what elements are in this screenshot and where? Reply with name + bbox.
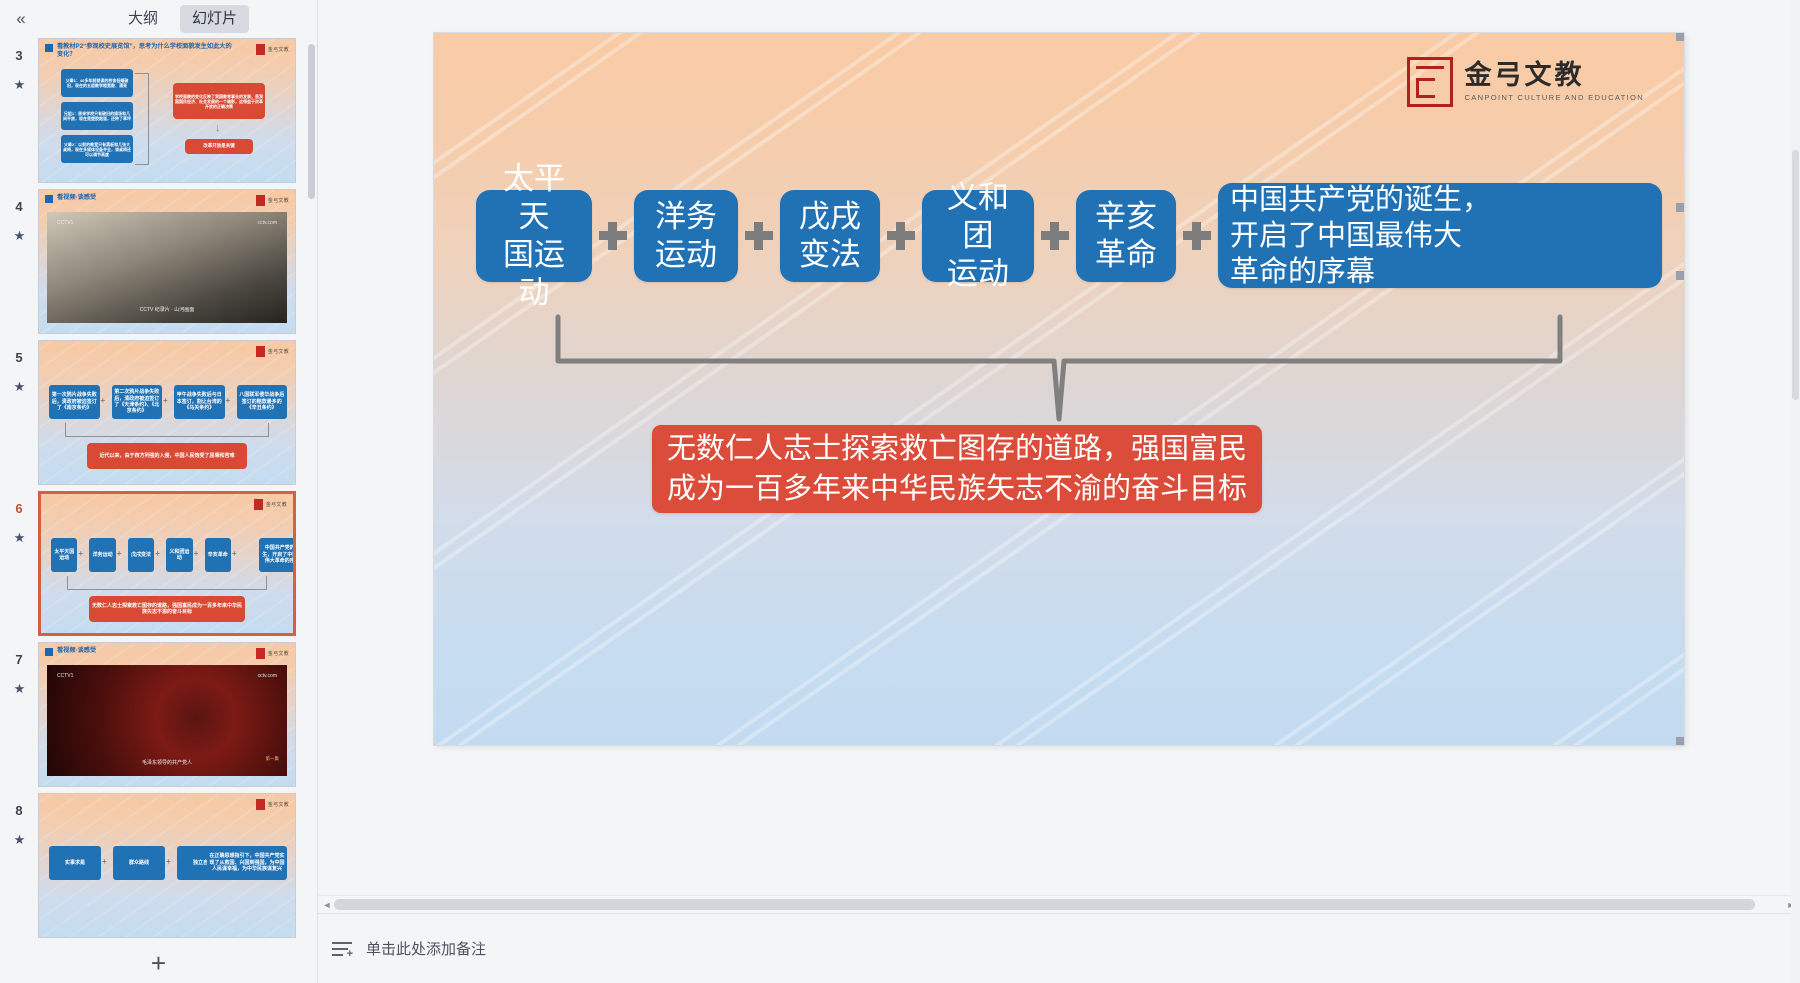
selection-handle-right-2[interactable] (1676, 271, 1684, 280)
flow-box-3[interactable]: 戊戌 变法 (780, 190, 880, 282)
flow-box-6[interactable]: 中国共产党的诞生， 开启了中国最伟大 革命的序幕 (1218, 183, 1662, 288)
thumb-logo: 金弓文教 (256, 346, 289, 357)
thumb-flow-box-2: 群众路线 (113, 846, 165, 880)
brace-connector (554, 313, 1564, 423)
hscroll-thumb[interactable] (334, 899, 1755, 910)
thumb-flow-box-4: 在正确思想指引下，中国共产党实现了从救国、兴国到强国，为中国人民谋幸福，为中华民… (207, 846, 287, 880)
thumb-plus-1: + (102, 858, 107, 866)
notes-add-icon: + (332, 939, 354, 959)
plus-separator-4 (1034, 215, 1076, 257)
thumbnail-scrollbar-thumb[interactable] (308, 44, 315, 199)
thumbnail-meta-8: 8★ (0, 793, 38, 938)
thumbnail-meta-7: 7★ (0, 642, 38, 787)
thumb-logo-mark-icon (256, 346, 265, 357)
thumb-title: 看视频·谈感受 (45, 647, 235, 656)
flow-box-2[interactable]: 洋务 运动 (634, 190, 738, 282)
thumb-flow-box-3: 戊戌变法 (128, 538, 154, 572)
thumb-plus-2: + (163, 397, 168, 405)
thumb-flow-box-1: 父辈1：40多年前就读的校舍低矮破旧，现在的五层教学楼宽敞、漂亮 (61, 69, 133, 97)
logo-text: 金弓文教 CANPOINT CULTURE AND EDUCATION (1465, 60, 1645, 104)
thumbnail-row-7: 7★金弓文教看视频·谈感受CCTV1cctv.com毛泽东领导的共产党人第一集 (0, 642, 317, 787)
thumbnail-list: 3★金弓文教看教材P2“参观校史展览馆”，思考为什么学校面貌发生如此大的变化？父… (0, 38, 317, 938)
movements-flow-row: 太平天 国运动洋务 运动戊戌 变法义和团 运动辛亥 革命中国共产党的诞生， 开启… (476, 183, 1662, 288)
thumbnail-scroll-area[interactable]: 3★金弓文教看教材P2“参观校史展览馆”，思考为什么学校面貌发生如此大的变化？父… (0, 38, 317, 943)
slide-number-3: 3 (15, 48, 22, 64)
window-scrollbar-thumb[interactable] (1792, 150, 1799, 400)
logo-chinese-name: 金弓文教 (1465, 60, 1645, 90)
thumb-red-box-1: 学校面貌的变化反映了我国教育事业的发展，是我国国民经济、社会发展的一个缩影，这得… (173, 83, 265, 119)
thumb-title-text: 看视频·谈感受 (57, 647, 96, 655)
thumb-channel-right-label: cctv.com (258, 673, 277, 679)
thumbnail-row-4: 4★金弓文教看视频·谈感受CCTV1cctv.comCCTV 纪录片 · 山河画… (0, 189, 317, 334)
thumb-brace-connector (135, 73, 149, 165)
panel-tabs: 大纲 幻灯片 (116, 5, 249, 33)
animation-star-icon-8[interactable]: ★ (14, 833, 25, 846)
thumb-brace-connector (65, 423, 269, 437)
thumb-title-bullet-icon (45, 648, 53, 656)
tab-slides[interactable]: 幻灯片 (180, 5, 249, 33)
thumbnail-row-5: 5★金弓文教第一次鸦片战争失败后，清政府被迫签订了《南京条约》+第二次鸦片战争失… (0, 340, 317, 485)
thumb-logo-text: 金弓文教 (268, 348, 289, 355)
thumb-logo-text: 金弓文教 (268, 46, 289, 53)
logo-english-name: CANPOINT CULTURE AND EDUCATION (1465, 92, 1645, 104)
slide-thumbnail-6[interactable]: 金弓文教太平天国运动+洋务运动+戊戌变法+义和团运动+辛亥革命+中国共产党的诞生… (38, 491, 296, 636)
slide-number-6: 6 (15, 501, 22, 517)
brace-svg (554, 313, 1564, 423)
thumb-title-text: 看教材P2“参观校史展览馆”，思考为什么学校面貌发生如此大的变化？ (57, 43, 235, 59)
slide-thumbnail-5[interactable]: 金弓文教第一次鸦片战争失败后，清政府被迫签订了《南京条约》+第二次鸦片战争失败后… (38, 340, 296, 485)
thumb-flow-box-2: 第二次鸦片战争失败后，清政府被迫签订了《天津条约》、《北京条约》 (112, 385, 163, 419)
slide-thumbnail-panel: « 大纲 幻灯片 3★金弓文教看教材P2“参观校史展览馆”，思考为什么学校面貌发… (0, 0, 318, 983)
thumb-flow-box-6: 中国共产党的诞生，开启了中国最伟大革命的序幕 (259, 538, 296, 572)
brand-logo: 金弓文教 CANPOINT CULTURE AND EDUCATION (1407, 57, 1645, 107)
thumbnail-meta-6: 6★ (0, 491, 38, 636)
animation-star-icon-3[interactable]: ★ (14, 78, 25, 91)
thumb-channel-left-label: CCTV1 (57, 673, 73, 679)
thumb-flow-box-5: 辛亥革命 (205, 538, 231, 572)
add-slide-button[interactable]: + (0, 943, 317, 983)
slide-thumbnail-8[interactable]: 金弓文教实事求是+群众路线+独立自主⇒在正确思想指引下，中国共产党实现了从救国、… (38, 793, 296, 938)
flow-box-5[interactable]: 辛亥 革命 (1076, 190, 1176, 282)
thumb-flow-box-4: 义和团运动 (166, 538, 192, 572)
animation-star-icon-6[interactable]: ★ (14, 531, 25, 544)
animation-star-icon-5[interactable]: ★ (14, 380, 25, 393)
slide-number-8: 8 (15, 803, 22, 819)
thumb-red-box-2: 改革开放是关键 (185, 139, 253, 154)
notes-placeholder: 单击此处添加备注 (366, 938, 486, 959)
thumb-logo-mark-icon (256, 195, 265, 206)
slide-stage: 金弓文教 CANPOINT CULTURE AND EDUCATION 太平天 … (318, 0, 1800, 895)
thumb-title-bullet-icon (45, 44, 53, 52)
slide-number-4: 4 (15, 199, 22, 215)
thumb-logo: 金弓文教 (256, 799, 289, 810)
thumb-flow-box-2: 兄姐1：原来学校只有破旧的操场和几间平房，现在是塑胶跑道，还种了草坪 (61, 102, 133, 130)
hscroll-track[interactable] (334, 899, 1784, 910)
collapse-panel-icon[interactable]: « (4, 4, 38, 34)
conclusion-line-1: 无数仁人志士探索救亡图存的道路，强国富民 (667, 429, 1247, 469)
thumbnail-row-6: 6★金弓文教太平天国运动+洋务运动+戊戌变法+义和团运动+辛亥革命+中国共产党的… (0, 491, 317, 636)
thumb-flow-box-4: 八国联军侵华战争后签订的赔款最多的《辛丑条约》 (237, 385, 288, 419)
animation-star-icon-4[interactable]: ★ (14, 229, 25, 242)
thumb-flow-box-1: 实事求是 (49, 846, 101, 880)
horizontal-scrollbar[interactable]: ◄ ► (318, 895, 1800, 913)
thumbnail-vertical-scrollbar[interactable] (308, 40, 315, 940)
thumb-flow-box-3: 父辈2：以前的教室只有黑板和几张大桌椅，现在多媒体设备齐全，课桌椅还可以调节高度 (61, 135, 133, 163)
slide-thumbnail-3[interactable]: 金弓文教看教材P2“参观校史展览馆”，思考为什么学校面貌发生如此大的变化？父辈1… (38, 38, 296, 183)
thumb-logo-mark-icon (256, 44, 265, 55)
slide-thumbnail-4[interactable]: 金弓文教看视频·谈感受CCTV1cctv.comCCTV 纪录片 · 山河画面 (38, 189, 296, 334)
thumb-flow-box-2: 洋务运动 (89, 538, 115, 572)
thumb-corner-label: 第一集 (266, 756, 280, 762)
selection-handle-bottom-right[interactable] (1676, 737, 1684, 745)
thumb-title-text: 看视频·谈感受 (57, 194, 96, 202)
slide-number-5: 5 (15, 350, 22, 366)
thumb-title-bullet-icon (45, 195, 53, 203)
plus-separator-1 (592, 215, 634, 257)
thumb-plus-1: + (101, 397, 106, 405)
window-vertical-scrollbar[interactable] (1791, 0, 1800, 983)
flow-box-4[interactable]: 义和团 运动 (922, 190, 1034, 282)
thumbnail-row-3: 3★金弓文教看教材P2“参观校史展览馆”，思考为什么学校面貌发生如此大的变化？父… (0, 38, 317, 183)
panel-header: « 大纲 幻灯片 (0, 0, 317, 38)
conclusion-line-2: 成为一百多年来中华民族矢志不渝的奋斗目标 (667, 469, 1247, 509)
thumb-logo: 金弓文教 (254, 499, 287, 510)
thumb-title: 看教材P2“参观校史展览馆”，思考为什么学校面貌发生如此大的变化？ (45, 43, 235, 59)
hscroll-left-arrow[interactable]: ◄ (320, 900, 334, 910)
thumb-logo: 金弓文教 (256, 648, 289, 659)
thumb-plus-3: + (155, 550, 160, 558)
thumb-plus-4: + (194, 550, 199, 558)
thumbnail-meta-5: 5★ (0, 340, 38, 485)
thumb-title: 看视频·谈感受 (45, 194, 235, 203)
thumb-plus-1: + (78, 550, 83, 558)
thumbnail-meta-3: 3★ (0, 38, 38, 183)
plus-separator-5 (1176, 215, 1218, 257)
thumb-plus-2: + (117, 550, 122, 558)
thumb-flow-box-1: 太平天国运动 (51, 538, 77, 572)
thumb-logo-text: 金弓文教 (268, 197, 289, 204)
thumb-logo-text: 金弓文教 (268, 801, 289, 808)
powerpoint-editor-window: « 大纲 幻灯片 3★金弓文教看教材P2“参观校史展览馆”，思考为什么学校面貌发… (0, 0, 1800, 983)
current-slide-canvas[interactable]: 金弓文教 CANPOINT CULTURE AND EDUCATION 太平天 … (434, 33, 1684, 745)
thumb-logo-mark-icon (256, 648, 265, 659)
thumbnail-meta-4: 4★ (0, 189, 38, 334)
thumb-red-box-1: 无数仁人志士探索救亡图存的道路，强国富民成为一百多年来中华民族矢志不渝的奋斗目标 (89, 596, 245, 622)
slide-thumbnail-7[interactable]: 金弓文教看视频·谈感受CCTV1cctv.com毛泽东领导的共产党人第一集 (38, 642, 296, 787)
thumb-red-box-1: 近代以来，由于西方列强的入侵，中国人民饱受了屈辱和苦难 (87, 443, 247, 469)
thumb-brace-connector (67, 576, 267, 590)
thumb-plus-3: + (226, 397, 231, 405)
selection-handle-right-1[interactable] (1676, 203, 1684, 212)
thumb-flow-box-3: 甲午战争失败后与日本签订，割让台湾的《马关条约》 (174, 385, 225, 419)
animation-star-icon-7[interactable]: ★ (14, 682, 25, 695)
thumbnail-row-8: 8★金弓文教实事求是+群众路线+独立自主⇒在正确思想指引下，中国共产党实现了从救… (0, 793, 317, 938)
thumb-logo-mark-icon (256, 799, 265, 810)
thumb-logo-text: 金弓文教 (266, 501, 287, 508)
thumb-channel-right-label: cctv.com (258, 220, 277, 226)
logo-mark-icon (1407, 57, 1453, 107)
main-editing-area: 金弓文教 CANPOINT CULTURE AND EDUCATION 太平天 … (318, 0, 1800, 983)
thumb-video-caption: CCTV 纪录片 · 山河画面 (39, 306, 295, 313)
conclusion-banner[interactable]: 无数仁人志士探索救亡图存的道路，强国富民 成为一百多年来中华民族矢志不渝的奋斗目… (652, 425, 1262, 513)
notes-pane[interactable]: + 单击此处添加备注 (318, 913, 1800, 983)
thumb-logo: 金弓文教 (256, 195, 289, 206)
thumb-logo-text: 金弓文教 (268, 650, 289, 657)
thumb-video-caption: 毛泽东领导的共产党人 (39, 759, 295, 766)
thumb-plus-5: + (232, 550, 237, 558)
slide-number-7: 7 (15, 652, 22, 668)
thumb-down-arrow-icon: ↓ (215, 123, 221, 134)
selection-handle-top-right[interactable] (1676, 33, 1684, 41)
thumb-channel-left-label: CCTV1 (57, 220, 73, 226)
plus-separator-3 (880, 215, 922, 257)
thumb-plus-2: + (166, 858, 171, 866)
plus-separator-2 (738, 215, 780, 257)
thumb-logo-mark-icon (254, 499, 263, 510)
thumb-logo: 金弓文教 (256, 44, 289, 55)
tab-outline[interactable]: 大纲 (116, 5, 170, 33)
flow-box-1[interactable]: 太平天 国运动 (476, 190, 592, 282)
thumb-flow-box-1: 第一次鸦片战争失败后，清政府被迫签订了《南京条约》 (49, 385, 100, 419)
